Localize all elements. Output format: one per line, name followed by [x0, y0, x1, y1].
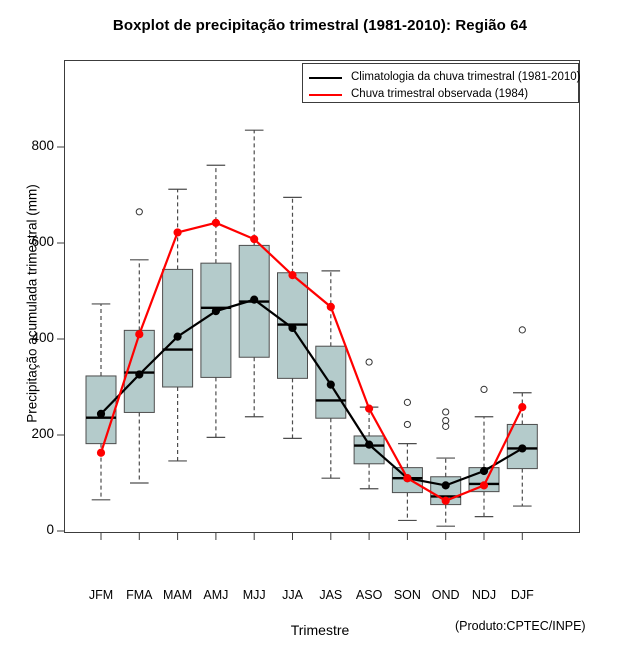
legend-swatch-climatology	[309, 77, 342, 79]
boxplot-jas	[316, 271, 346, 478]
boxplot-djf	[507, 327, 537, 506]
series-point	[97, 449, 104, 456]
series-point	[480, 482, 487, 489]
series-point	[519, 445, 526, 452]
product-credit: (Produto:CPTEC/INPE)	[455, 619, 640, 633]
outlier-point	[404, 399, 410, 405]
boxplot-mjj	[239, 130, 269, 417]
series-point	[327, 303, 334, 310]
series-climatology	[97, 296, 526, 489]
series-point	[519, 404, 526, 411]
boxplot-fma	[124, 209, 154, 483]
y-tick-label: 200	[10, 426, 54, 441]
series-point	[251, 296, 258, 303]
x-axis-title: Trimestre	[170, 622, 470, 638]
series-point	[366, 441, 373, 448]
x-tick-label-djf: DJF	[492, 588, 552, 602]
series-point	[327, 381, 334, 388]
legend-swatch-observed	[309, 94, 342, 96]
outlier-point	[136, 209, 142, 215]
boxplot-ndj	[469, 386, 499, 516]
outlier-point	[481, 386, 487, 392]
box-iqr	[354, 436, 384, 464]
series-point	[97, 410, 104, 417]
legend-item-climatology: Climatologia da chuva trimestral (1981-2…	[309, 69, 580, 86]
box-iqr	[201, 263, 231, 377]
outlier-point	[519, 327, 525, 333]
series-point	[366, 405, 373, 412]
series-point	[251, 236, 258, 243]
series-point	[289, 324, 296, 331]
legend-label-climatology: Climatologia da chuva trimestral (1981-2…	[351, 72, 580, 83]
outlier-point	[404, 421, 410, 427]
box-iqr	[163, 269, 193, 387]
legend: Climatologia da chuva trimestral (1981-2…	[302, 63, 579, 103]
series-point	[404, 475, 411, 482]
series-observed	[97, 219, 526, 504]
series-point	[136, 331, 143, 338]
series-point	[136, 371, 143, 378]
chart-root: Boxplot de precipitação trimestral (1981…	[0, 0, 640, 660]
y-tick-label: 0	[10, 522, 54, 537]
series-point	[174, 229, 181, 236]
boxplot-ond	[431, 409, 461, 526]
series-point	[442, 497, 449, 504]
series-point	[480, 467, 487, 474]
series-point	[174, 333, 181, 340]
outlier-point	[366, 359, 372, 365]
y-axis-title: Precipitação acumulada trimestral (mm)	[25, 94, 40, 514]
y-tick-label: 400	[10, 330, 54, 345]
outlier-point	[443, 409, 449, 415]
boxplot-jja	[278, 197, 308, 438]
series-point	[442, 482, 449, 489]
legend-item-observed: Chuva trimestral observada (1984)	[309, 86, 528, 103]
series-point	[289, 272, 296, 279]
y-tick-label: 800	[10, 138, 54, 153]
series-point	[212, 308, 219, 315]
legend-label-observed: Chuva trimestral observada (1984)	[351, 89, 528, 100]
boxplot-amj	[201, 165, 231, 437]
y-tick-label: 600	[10, 234, 54, 249]
series-point	[212, 219, 219, 226]
